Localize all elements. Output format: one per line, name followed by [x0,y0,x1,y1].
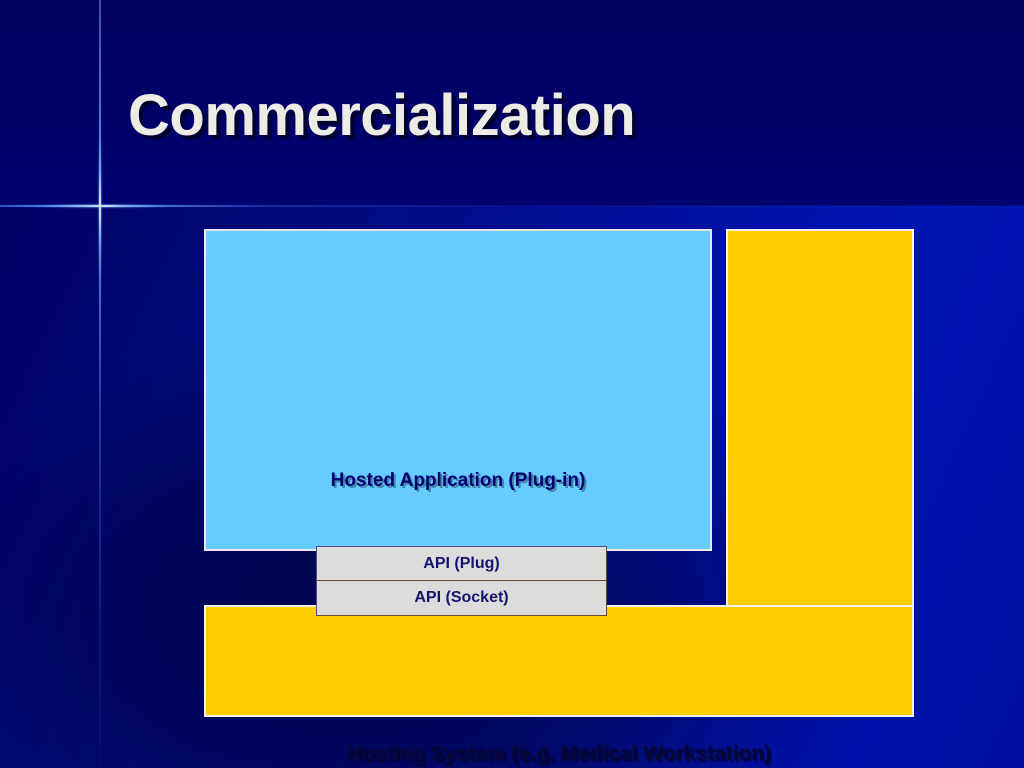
hosted-application-label: Hosted Application (Plug-in) [204,470,712,492]
presentation-slide: Commercialization Hosted Application (Pl… [0,0,1024,768]
hosted-application-box [204,229,712,551]
hosting-system-base [204,605,914,717]
api-socket-box: API (Socket) [316,581,607,616]
api-plug-box: API (Plug) [316,546,607,581]
api-stack: API (Plug) API (Socket) [316,546,607,616]
hosting-system-label: Hosting System (e.g. Medical Workstation… [204,742,914,766]
slide-title: Commercialization [128,82,635,149]
